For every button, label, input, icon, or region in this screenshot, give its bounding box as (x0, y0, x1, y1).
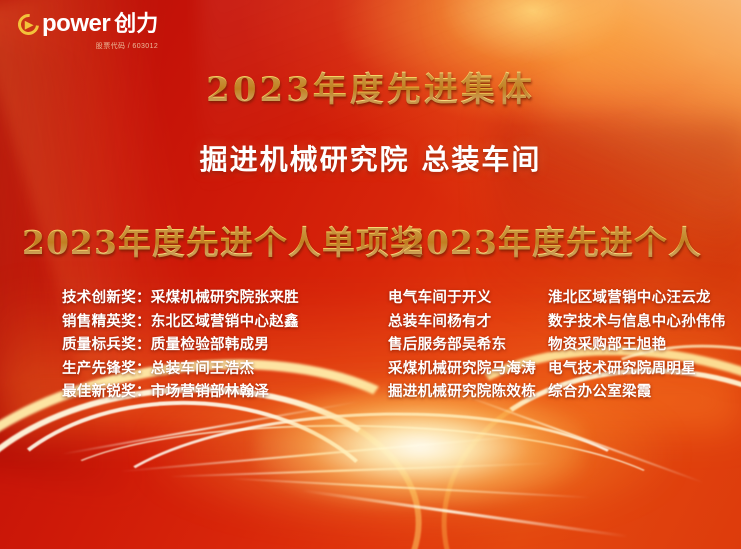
list-item: 销售精英奖：东北区域营销中心赵鑫 (62, 310, 362, 334)
list-item: 质量标兵奖：质量检验部韩成男 (62, 333, 362, 357)
list-item: 采煤机械研究院马海涛 电气技术研究院周明星 (388, 357, 728, 381)
c-power-arrow-icon (14, 9, 43, 38)
section-heading-individual-award: 2023年度先进个人 (402, 216, 702, 264)
special-award-list: 技术创新奖：采煤机械研究院张来胜 销售精英奖：东北区域营销中心赵鑫 质量标兵奖：… (62, 286, 362, 404)
winner-name: 物资采购部王旭艳 (548, 333, 728, 357)
list-item: 技术创新奖：采煤机械研究院张来胜 (62, 286, 362, 310)
winner-name: 掘进机械研究院陈效栋 (388, 380, 548, 404)
winner-name: 淮北区域营销中心汪云龙 (548, 286, 728, 310)
poster-content: 2023年度先进集体 掘进机械研究院 总装车间 2023年度先进个人单项奖 20… (0, 0, 741, 549)
list-item: 最佳新锐奖：市场营销部林翰泽 (62, 380, 362, 404)
individual-award-list: 电气车间于开义 淮北区域营销中心汪云龙 总装车间杨有才 数字技术与信息中心孙伟伟… (388, 286, 728, 404)
winner-name: 售后服务部吴希东 (388, 333, 548, 357)
list-item: 生产先锋奖：总装车间王浩杰 (62, 357, 362, 381)
winner-name: 电气车间于开义 (388, 286, 548, 310)
logo-brand-cn: 创力 (114, 13, 158, 35)
section-heading-special-award: 2023年度先进个人单项奖 (22, 216, 424, 264)
list-item: 售后服务部吴希东 物资采购部王旭艳 (388, 333, 728, 357)
winner-name: 采煤机械研究院马海涛 (388, 357, 548, 381)
page-title: 2023年度先进集体 (0, 62, 741, 111)
company-logo: power 创力 股票代码 / 603012 (18, 12, 158, 51)
logo-stock-code: 股票代码 / 603012 (18, 41, 158, 51)
award-poster: power 创力 股票代码 / 603012 2023年度先进集体 掘进机械研究… (0, 0, 741, 549)
winner-name: 数字技术与信息中心孙伟伟 (548, 310, 728, 334)
winner-name: 电气技术研究院周明星 (548, 357, 728, 381)
logo-brand-en: power (42, 12, 110, 36)
collective-winners: 掘进机械研究院 总装车间 (0, 138, 741, 178)
winner-name: 综合办公室梁霞 (548, 380, 728, 404)
list-item: 总装车间杨有才 数字技术与信息中心孙伟伟 (388, 310, 728, 334)
winner-name: 总装车间杨有才 (388, 310, 548, 334)
list-item: 电气车间于开义 淮北区域营销中心汪云龙 (388, 286, 728, 310)
list-item: 掘进机械研究院陈效栋 综合办公室梁霞 (388, 380, 728, 404)
